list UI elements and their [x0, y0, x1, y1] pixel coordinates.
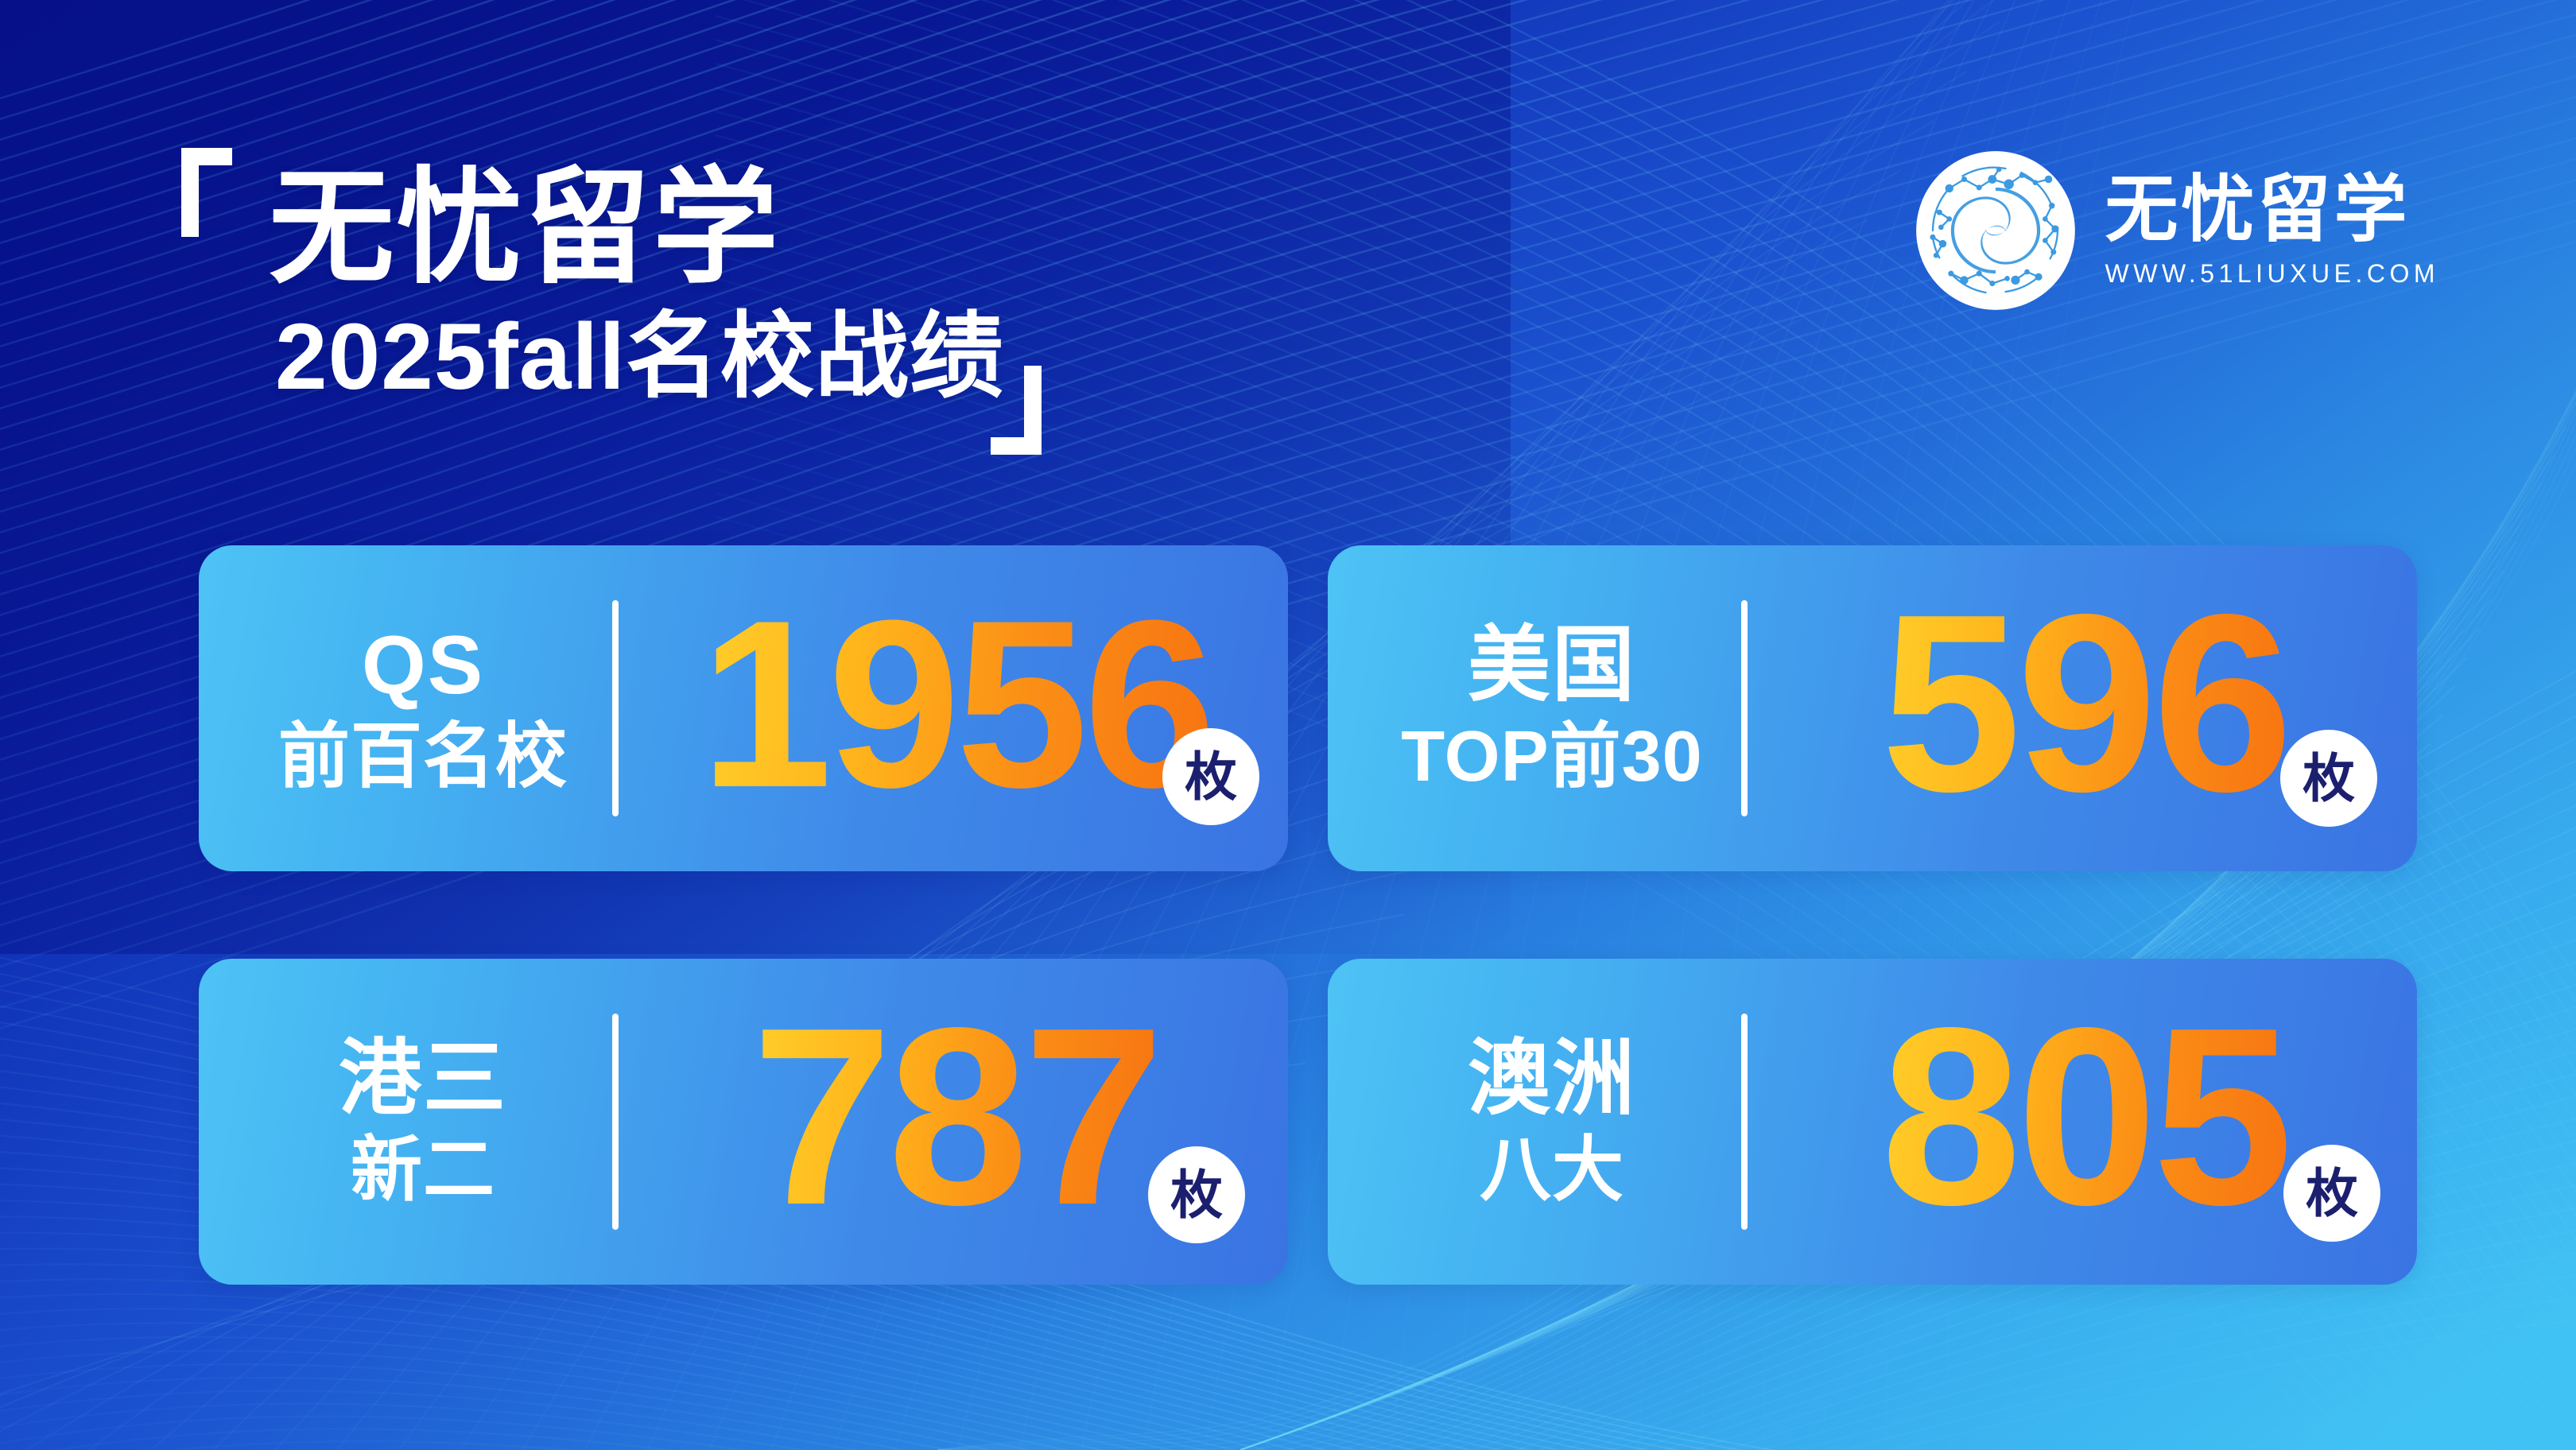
stat-card-qs[interactable]: QS 前百名校 1956 枚	[199, 545, 1288, 871]
stat-label-line-1: 港三	[339, 1033, 507, 1125]
title-line-1: 无忧留学	[269, 161, 781, 297]
stat-value: 805	[1876, 991, 2294, 1243]
brand-logo: 无忧留学 WWW.51LIUXUE.COM	[1913, 148, 2439, 313]
stat-unit-badge: 枚	[2283, 1145, 2380, 1242]
card-divider	[1741, 600, 1748, 816]
stat-value: 787	[747, 991, 1165, 1243]
stat-card-australia-g8[interactable]: 澳洲 八大 805 枚	[1328, 959, 2417, 1285]
logo-url: WWW.51LIUXUE.COM	[2105, 259, 2439, 289]
stat-value: 596	[1876, 577, 2294, 830]
stats-grid: QS 前百名校 1956 枚 美国 TOP前30 596 枚 港三 新二	[199, 545, 2417, 1285]
bracket-open-icon	[181, 148, 232, 237]
stat-unit-badge: 枚	[2280, 730, 2377, 827]
stat-unit-badge: 枚	[1162, 728, 1259, 825]
stat-value-wrap: 787 枚	[623, 959, 1288, 1285]
stat-label-line-1: 澳洲	[1468, 1033, 1636, 1125]
stat-label-line-1: 美国	[1468, 619, 1636, 711]
spiral-network-emblem-icon	[1913, 148, 2078, 313]
stat-label-line-2: 八大	[1480, 1130, 1624, 1211]
stat-label: 美国 TOP前30	[1328, 619, 1741, 797]
stat-value-wrap: 1956 枚	[623, 545, 1288, 871]
stat-unit-badge: 枚	[1148, 1146, 1245, 1243]
title-line-2: 2025fall名校战绩	[275, 307, 1004, 408]
stat-label-line-1: QS	[362, 619, 484, 711]
stat-label-line-2: 前百名校	[278, 717, 568, 797]
stat-label: QS 前百名校	[199, 619, 612, 797]
stat-label: 澳洲 八大	[1328, 1033, 1741, 1210]
stat-value-wrap: 596 枚	[1752, 545, 2417, 871]
page-title: 无忧留学 2025fall名校战绩	[181, 140, 1231, 458]
stat-label-line-2: 新二	[351, 1130, 495, 1211]
stat-label-line-2: TOP前30	[1401, 717, 1703, 797]
poster-stage: 无忧留学 2025fall名校战绩	[0, 0, 2576, 1450]
stat-label: 港三 新二	[199, 1033, 612, 1210]
logo-name: 无忧留学	[2105, 173, 2439, 246]
stat-card-hk-sg[interactable]: 港三 新二 787 枚	[199, 959, 1288, 1285]
card-divider	[1741, 1014, 1748, 1230]
logo-text-group: 无忧留学 WWW.51LIUXUE.COM	[2105, 173, 2439, 289]
card-divider	[612, 600, 619, 816]
stat-card-usa-top30[interactable]: 美国 TOP前30 596 枚	[1328, 545, 2417, 871]
stat-value: 1956	[695, 584, 1216, 823]
card-divider	[612, 1014, 619, 1230]
stat-value-wrap: 805 枚	[1752, 959, 2417, 1285]
